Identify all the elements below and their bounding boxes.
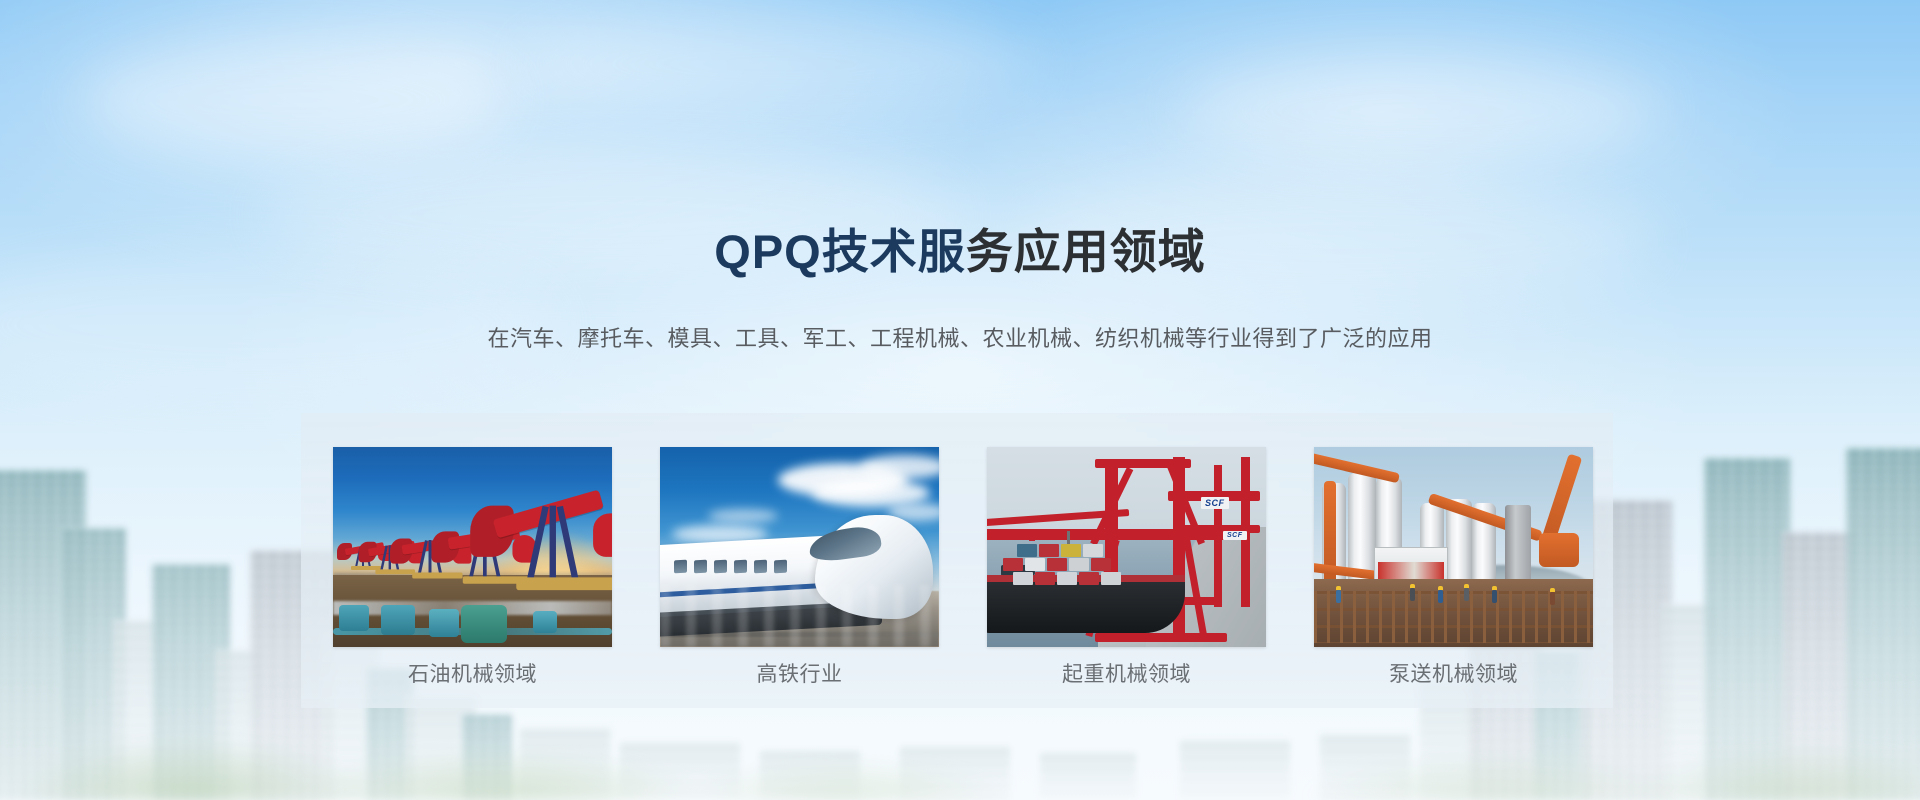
oilfield-thumbnail[interactable] — [333, 447, 612, 647]
container — [1035, 572, 1055, 585]
wellhead-valve — [429, 609, 459, 637]
train-window — [754, 560, 767, 574]
container — [1025, 558, 1045, 571]
worker — [1550, 592, 1555, 605]
worker — [1438, 590, 1443, 603]
container-ship — [987, 581, 1185, 633]
oilfield-scene — [333, 447, 612, 647]
wellhead-valve — [461, 605, 507, 643]
worker-helmet — [1550, 588, 1555, 592]
train-window — [674, 560, 687, 574]
worker-helmet — [1336, 586, 1341, 590]
high-speed-train-thumbnail[interactable] — [660, 447, 939, 647]
crane-brand-label: SCF — [1223, 531, 1247, 540]
container — [1091, 558, 1111, 571]
train-window — [714, 560, 727, 574]
application-card-list: 石油机械领域 — [333, 447, 1585, 702]
container — [1083, 544, 1103, 557]
gantry-apex — [1095, 459, 1191, 468]
worker — [1492, 590, 1497, 603]
container — [1101, 572, 1121, 585]
card-label-rail: 高铁行业 — [660, 664, 939, 685]
boom-pivot-housing — [1539, 533, 1579, 567]
container — [1003, 558, 1023, 571]
application-card-rail[interactable]: 高铁行业 — [660, 447, 939, 702]
page-title: QPQ技术服务应用领域 — [0, 228, 1920, 275]
worker-helmet — [1438, 586, 1443, 590]
worker-helmet — [1410, 584, 1415, 588]
crane-brand-label: SCF — [1201, 497, 1229, 509]
worker-helmet — [1464, 584, 1469, 588]
wellhead-valve — [381, 605, 415, 635]
page-title-secondary: 务应用领域 — [966, 225, 1206, 278]
gantry-trolley — [1029, 529, 1035, 541]
motion-blur — [660, 585, 939, 647]
cloud — [708, 509, 778, 523]
container — [1061, 544, 1081, 557]
train-window — [694, 560, 707, 574]
container — [1057, 572, 1077, 585]
page-subtitle: 在汽车、摩托车、模具、工具、军工、工程机械、农业机械、纺织机械等行业得到了广泛的… — [0, 328, 1920, 350]
wellhead-valve — [533, 611, 557, 633]
page-title-primary: QPQ技术服 — [714, 225, 965, 278]
wellhead-valve — [339, 605, 369, 631]
port-crane-thumbnail[interactable]: SCF SCF — [987, 447, 1266, 647]
train-scene — [660, 447, 939, 647]
hero-content: QPQ技术服务应用领域 在汽车、摩托车、模具、工具、军工、工程机械、农业机械、纺… — [0, 0, 1920, 800]
cloud — [860, 455, 939, 479]
port-scene: SCF SCF — [987, 447, 1266, 647]
concrete-pump-scene — [1314, 447, 1593, 647]
train-window — [734, 560, 747, 574]
gantry-sill-beam — [1095, 633, 1227, 642]
site-banner — [1378, 562, 1444, 579]
container — [1013, 572, 1033, 585]
application-card-oil[interactable]: 石油机械领域 — [333, 447, 612, 702]
application-card-crane[interactable]: SCF SCF — [987, 447, 1266, 702]
concrete-pump-thumbnail[interactable] — [1314, 447, 1593, 647]
card-label-crane: 起重机械领域 — [987, 664, 1266, 685]
train-window — [774, 560, 787, 574]
worker — [1464, 588, 1469, 601]
worker — [1410, 588, 1415, 601]
card-label-pump: 泵送机械领域 — [1314, 664, 1593, 685]
card-label-oil: 石油机械领域 — [333, 664, 612, 685]
container — [1039, 544, 1059, 557]
worker-helmet — [1492, 586, 1497, 590]
container — [1047, 558, 1067, 571]
container — [1017, 544, 1037, 557]
worker — [1336, 590, 1341, 603]
container — [1079, 572, 1099, 585]
application-card-pump[interactable]: 泵送机械领域 — [1314, 447, 1593, 702]
container — [1069, 558, 1089, 571]
